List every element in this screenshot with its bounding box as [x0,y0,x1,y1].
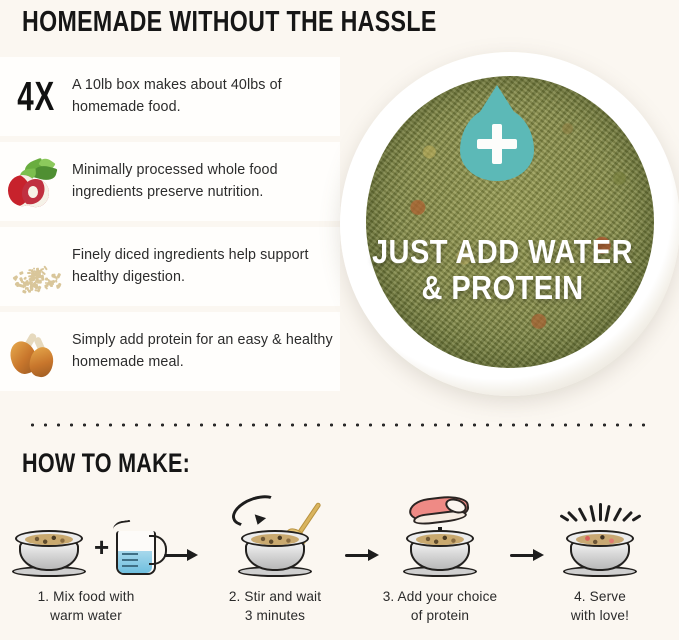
step-1-art: + [6,495,166,581]
dog-bowl-icon [238,531,312,577]
howto-step: + 1. Mix food with warm water [6,495,166,640]
chicken-drumsticks-icon [0,317,72,387]
step-caption-line-2: of protein [360,606,520,625]
step-3-art [360,495,520,581]
step-caption-line-2: with love! [520,606,679,625]
diced-ingredients-art [6,238,66,296]
page-title: HOMEMADE WITHOUT THE HASSLE [22,6,437,39]
benefit-row: 4X A 10lb box makes about 40lbs of homem… [0,57,340,136]
infographic-page: HOMEMADE WITHOUT THE HASSLE 4X A 10lb bo… [0,0,679,640]
benefit-row: Minimally processed whole food ingredien… [0,142,340,221]
bowl-caption-line-1: JUST ADD WATER [360,234,646,270]
step-2-art [195,495,355,581]
dog-bowl-icon [563,531,637,577]
benefit-row: Simply add protein for an easy & healthy… [0,312,340,391]
step-caption: 4. Serve with love! [520,587,679,626]
dog-bowl-icon [403,531,477,577]
benefit-text: Simply add protein for an easy & healthy… [72,330,340,373]
sparkle-lines-icon [558,497,642,527]
measuring-cup-icon [116,525,164,575]
benefit-row: Finely diced ingredients help support he… [0,227,340,306]
apple-greens-icon [0,147,72,217]
step-caption-line-1: 2. Stir and wait [195,587,355,606]
step-caption-line-1: 4. Serve [520,587,679,606]
benefit-text: Minimally processed whole food ingredien… [72,160,340,203]
arrow-right-icon [164,549,198,561]
drumsticks-art [6,323,66,381]
bowl-caption-line-2: & PROTEIN [360,270,646,306]
step-caption-line-2: 3 minutes [195,606,355,625]
howto-step: 2. Stir and wait 3 minutes [195,495,355,640]
step-caption: 2. Stir and wait 3 minutes [195,587,355,626]
bowl-caption: JUST ADD WATER & PROTEIN [340,234,665,305]
step-caption: 1. Mix food with warm water [6,587,166,626]
howto-step: 4. Serve with love! [520,495,679,640]
steak-icon [409,495,471,529]
diced-ingredients-icon [0,232,72,302]
apple-greens-art [6,153,66,211]
stir-arrow-icon [231,497,277,527]
plus-symbol: + [94,532,109,563]
dotted-divider [26,423,654,427]
howto-steps: + 1. Mix food with warm water [0,495,679,640]
benefit-text: Finely diced ingredients help support he… [72,245,340,288]
benefit-text: A 10lb box makes about 40lbs of homemade… [72,75,340,118]
step-caption-line-2: warm water [6,606,166,625]
step-caption-line-1: 1. Mix food with [6,587,166,606]
4x-multiplier-icon: 4X [0,62,72,132]
step-caption-line-1: 3. Add your choice [360,587,520,606]
howto-step: 3. Add your choice of protein [360,495,520,640]
step-4-art [520,495,679,581]
step-caption: 3. Add your choice of protein [360,587,520,626]
4x-badge-label: 4X [17,73,55,120]
howto-title: HOW TO MAKE: [22,448,190,479]
food-bowl-photo: JUST ADD WATER & PROTEIN [340,52,679,400]
dog-bowl-icon [12,531,86,577]
